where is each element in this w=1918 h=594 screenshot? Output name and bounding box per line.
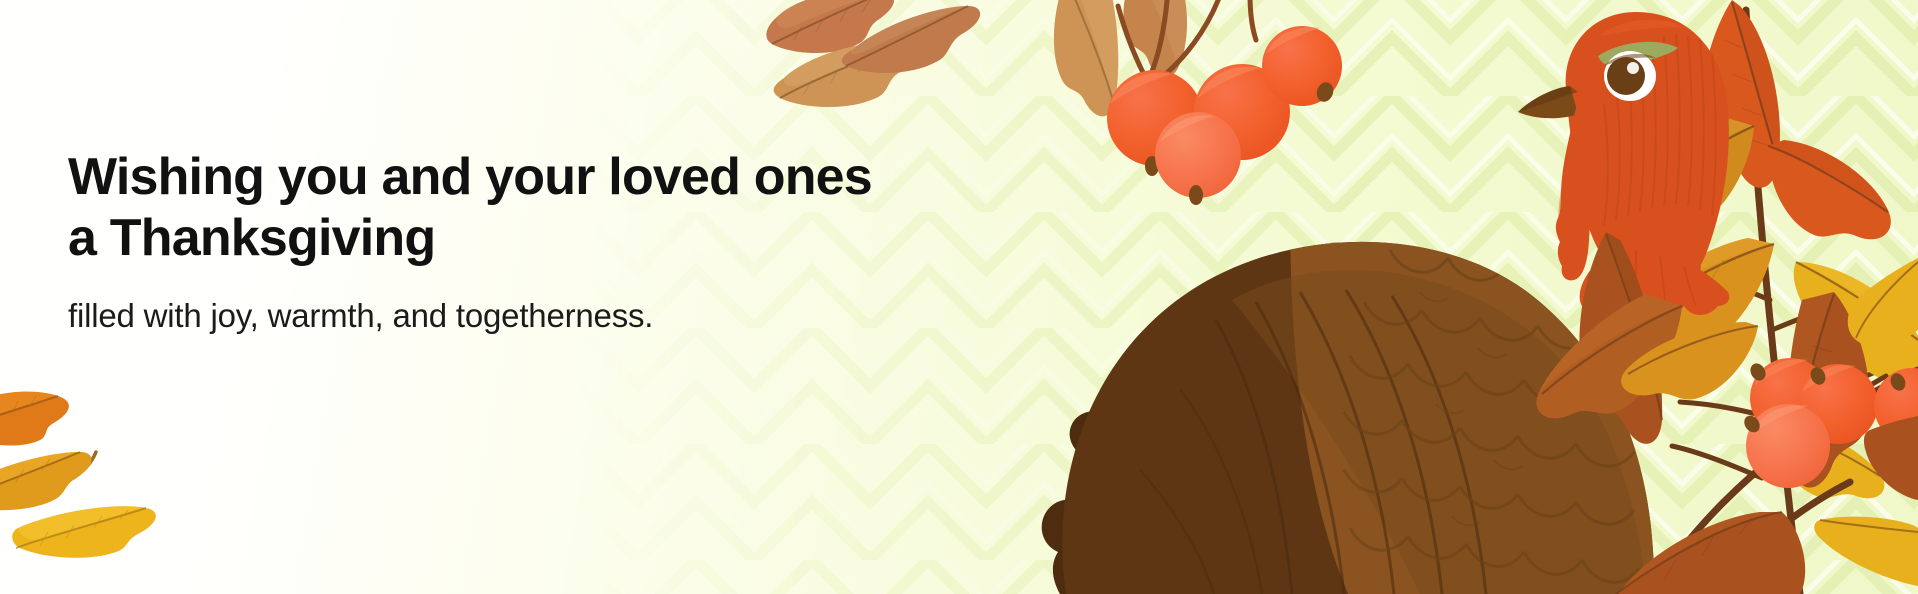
thanksgiving-banner: Wishing you and your loved ones a Thanks…: [0, 0, 1918, 594]
leaf: [774, 41, 920, 107]
leaf: [1760, 420, 1884, 498]
berry: [1155, 112, 1241, 205]
leaf: [1621, 322, 1758, 400]
leaf: [1579, 232, 1662, 444]
turkey-neck: [1577, 122, 1701, 291]
leaf: [0, 392, 69, 446]
leaf: [1123, 0, 1187, 77]
leaf: [842, 6, 980, 73]
turkey-wattle: [1556, 108, 1598, 280]
leaf: [1608, 238, 1774, 358]
turkey-body: [1062, 208, 1700, 594]
berry: [1874, 368, 1918, 444]
turkey-tail: [1042, 375, 1200, 594]
berry: [1107, 70, 1203, 176]
leaf: [1864, 416, 1918, 500]
berry: [1747, 358, 1830, 438]
leaf: [1848, 258, 1918, 346]
page-title: Wishing you and your loved ones a Thanks…: [68, 147, 968, 269]
berry: [1262, 26, 1342, 106]
leaf: [1814, 517, 1918, 586]
leaf: [1768, 140, 1891, 239]
turkey-head: [1518, 12, 1729, 292]
leaf: [766, 0, 894, 53]
turkey-beak: [1518, 86, 1578, 118]
greeting-text-block: Wishing you and your loved ones a Thanks…: [68, 147, 968, 336]
leaf: [1536, 294, 1682, 418]
berry: [1798, 364, 1878, 444]
leaf: [1794, 262, 1918, 392]
turkey-shoulder-collar: [1580, 240, 1730, 315]
page-subtitle: filled with joy, warmth, and togethernes…: [68, 295, 968, 336]
leaf: [1054, 0, 1118, 116]
leaf: [0, 452, 92, 510]
leaf: [1788, 292, 1870, 488]
leaf: [1701, 0, 1780, 188]
turkey-wing-edge: [1186, 372, 1250, 594]
leaf: [1620, 116, 1754, 233]
berry: [1194, 64, 1290, 162]
leaf: [1616, 512, 1805, 594]
turkey-eye: [1598, 42, 1678, 101]
leaf: [12, 506, 156, 558]
berry: [1741, 404, 1830, 488]
